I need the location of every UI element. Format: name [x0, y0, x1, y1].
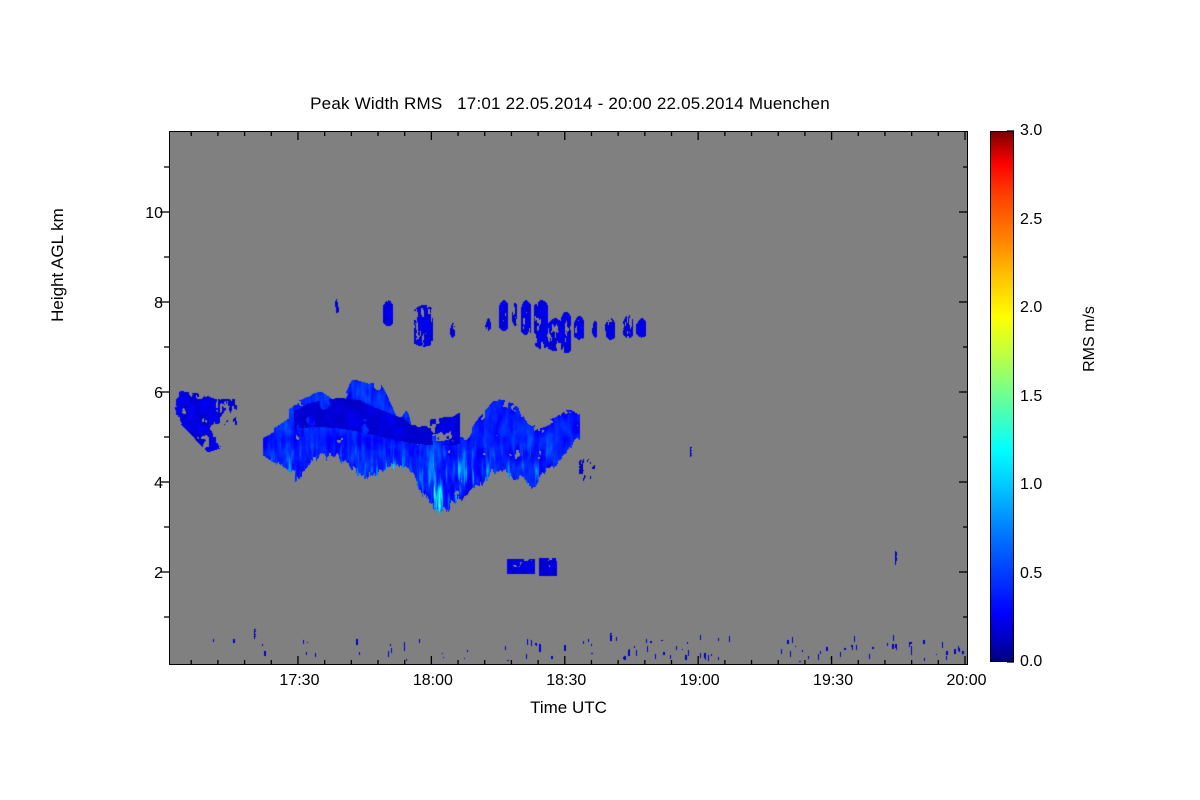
y-tick-label: 10	[133, 205, 163, 223]
colorbar-tick-label: 3.0	[1020, 122, 1042, 140]
colorbar-tick-label: 2.5	[1020, 211, 1042, 229]
colorbar-tick-label: 2.0	[1020, 299, 1042, 317]
x-tick-label: 18:00	[393, 672, 473, 690]
colorbar	[990, 131, 1014, 662]
y-tick-label: 2	[133, 565, 163, 583]
x-tick-label: 19:00	[660, 672, 740, 690]
y-tick-label: 4	[133, 475, 163, 493]
plot-area	[169, 131, 968, 665]
colorbar-tick-label: 0.5	[1020, 565, 1042, 583]
chart-title: Peak Width RMS 17:01 22.05.2014 - 20:00 …	[0, 94, 1140, 114]
x-axis-tick-labels: 17:3018:0018:3019:0019:3020:00	[169, 672, 968, 696]
x-tick-label: 18:30	[526, 672, 606, 690]
y-tick-label: 8	[133, 295, 163, 313]
y-axis-label: Height AGL km	[48, 155, 68, 375]
y-tick-label: 6	[133, 385, 163, 403]
x-axis-label: Time UTC	[169, 698, 968, 718]
x-tick-label: 19:30	[793, 672, 873, 690]
x-tick-label: 17:30	[259, 672, 339, 690]
colorbar-label: RMS m/s	[1081, 249, 1099, 429]
figure-canvas: Peak Width RMS 17:01 22.05.2014 - 20:00 …	[0, 0, 1200, 800]
colorbar-tick-label: 0.0	[1020, 653, 1042, 671]
heatmap-data	[170, 132, 966, 663]
x-tick-label: 20:00	[927, 672, 1007, 690]
colorbar-tick-label: 1.0	[1020, 476, 1042, 494]
y-axis-tick-labels: 246810	[129, 131, 163, 665]
colorbar-tick-label: 1.5	[1020, 388, 1042, 406]
